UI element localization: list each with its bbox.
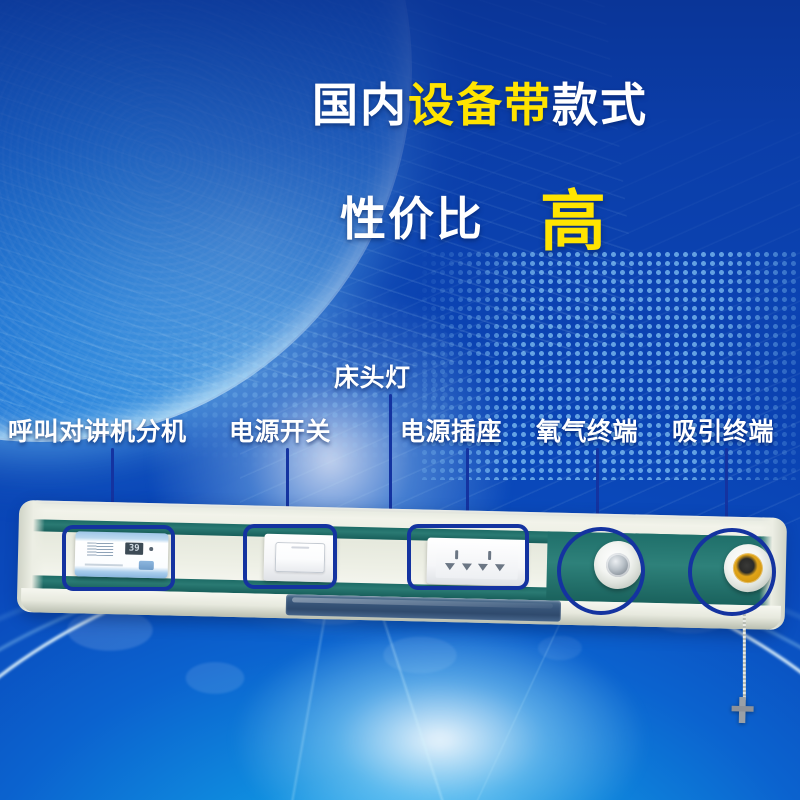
pull-cord-weight-icon [731,697,754,724]
callout-label-oxygen-terminal: 氧气终端 [536,412,638,448]
headline-line-1: 国内设备带款式 [270,82,690,128]
highlight-power-socket [407,524,529,590]
headline-part-1: 国内 [312,79,408,131]
promo-banner: 国内设备带款式 性价比 高 呼叫对讲机分机 电源开关 床头灯 电源插座 氧气终端… [0,0,800,800]
headline-part-2-highlight: 设备带 [408,79,552,131]
highlight-oxygen-terminal [557,527,645,615]
headline-line-2: 性价比 高 [340,168,760,264]
highlight-power-switch [243,524,337,589]
subheadline-text: 性价比 [340,183,484,249]
callout-label-intercom: 呼叫对讲机分机 [8,412,187,448]
callout-label-power-socket: 电源插座 [400,412,502,448]
callout-label-suction-terminal: 吸引终端 [672,412,774,448]
callout-label-bed-light: 床头灯 [334,358,411,394]
callout-label-power-switch: 电源开关 [229,412,331,448]
highlight-intercom [62,525,175,591]
subheadline-highlight: 高 [540,168,608,264]
pull-cord[interactable] [743,612,746,700]
headline-part-3: 款式 [552,79,648,131]
highlight-suction-terminal [688,528,776,616]
